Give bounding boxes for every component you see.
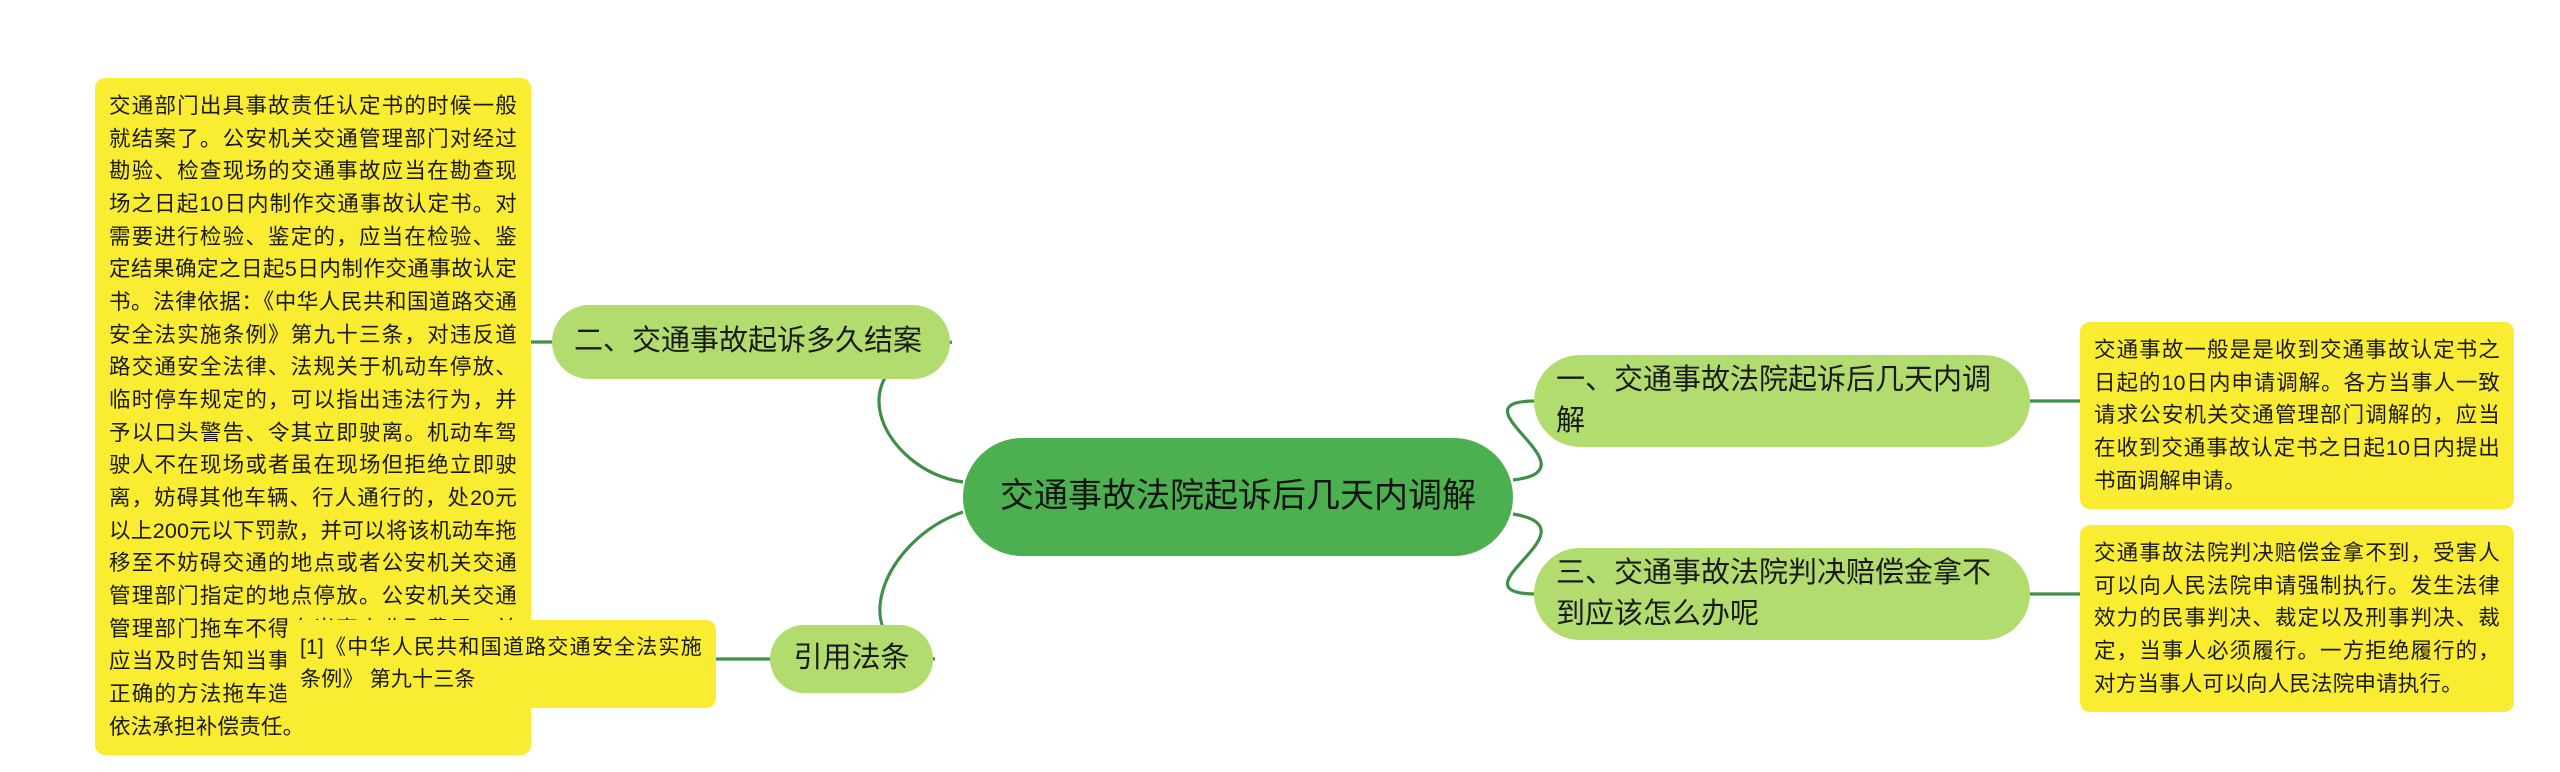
- root-node[interactable]: 交通事故法院起诉后几天内调解: [963, 438, 1513, 556]
- mindmap-canvas: 交通部门出具事故责任认定书的时候一般就结案了。公安机关交通管理部门对经过勘验、检…: [0, 0, 2560, 772]
- branch-node-two[interactable]: 二、交通事故起诉多久结案: [552, 305, 950, 379]
- branch-node-law[interactable]: 引用法条: [770, 625, 933, 693]
- note-branch-one: 交通事故一般是是收到交通事故认定书之日起的10日内申请调解。各方当事人一致请求公…: [2080, 322, 2514, 509]
- note-branch-three: 交通事故法院判决赔偿金拿不到，受害人可以向人民法院申请强制执行。发生法律效力的民…: [2080, 525, 2514, 712]
- note-branch-law: [1]《中华人民共和国道路交通安全法实施条例》 第九十三条: [286, 620, 716, 708]
- branch-node-three[interactable]: 三、交通事故法院判决赔偿金拿不到应该怎么办呢: [1534, 548, 2030, 640]
- branch-node-one[interactable]: 一、交通事故法院起诉后几天内调解: [1534, 355, 2030, 447]
